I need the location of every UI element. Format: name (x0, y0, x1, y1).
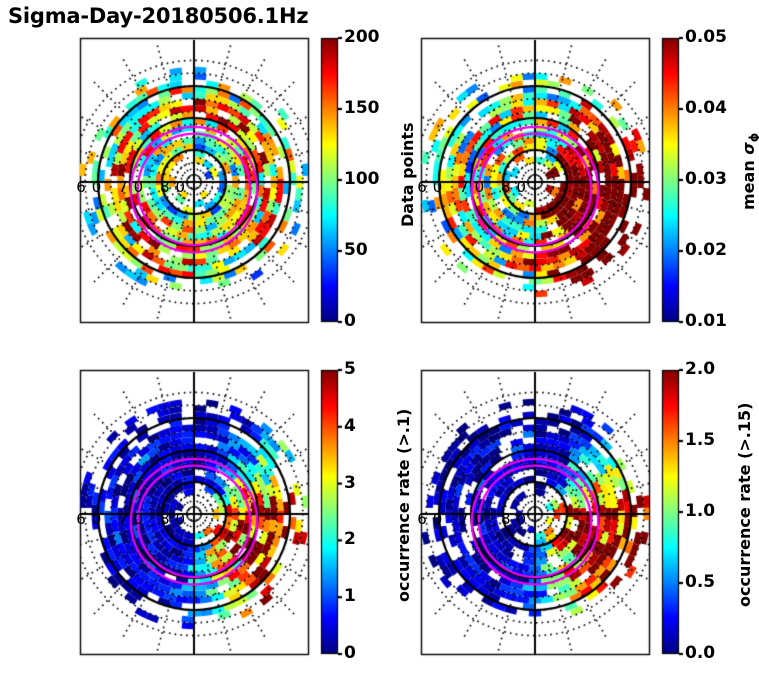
colorbar-tick-label: 4 (344, 418, 356, 435)
colorbar-tick-label: 1.0 (685, 503, 715, 520)
latitude-tick-labels: 60 70 80 (417, 180, 532, 195)
colorbar-tick-label: 0.05 (685, 29, 727, 46)
figure-title: Sigma-Day-20180506.1Hz (8, 4, 308, 28)
colorbar-tick-label: 0 (344, 645, 356, 662)
colorbar-tick-label: 100 (344, 171, 380, 188)
figure-root: Sigma-Day-20180506.1Hz 050100150200Data … (0, 0, 759, 674)
colorbar-tick-label: 0.04 (685, 100, 727, 117)
colorbar-tick-label: 5 (344, 361, 356, 378)
colorbar-tick-label: 1 (344, 588, 356, 605)
colorbar-axis-label: occurrence rate (>.15) (737, 402, 753, 606)
colorbar-tick-label: 0 (344, 313, 356, 330)
latitude-tick-labels: 60 70 80 (76, 512, 191, 527)
colorbar-tick-label: 0.0 (685, 645, 715, 662)
colorbar-tick-label: 3 (344, 475, 356, 492)
colorbar-axis-label: Data points (400, 123, 416, 228)
colorbar-tick-label: 0.02 (685, 242, 727, 259)
colorbar-tick-label: 50 (344, 242, 368, 259)
colorbar-tick-label: 200 (344, 29, 380, 46)
colorbar-tick-label: 2 (344, 531, 356, 548)
colorbar-tick-label: 2.0 (685, 361, 715, 378)
latitude-tick-labels: 60 70 80 (417, 512, 532, 527)
colorbar-axis-label: mean σϕ (741, 133, 759, 210)
colorbar-tick-label: 0.01 (685, 313, 727, 330)
latitude-tick-labels: 60 70 80 (76, 180, 191, 195)
colorbar-tick-label: 150 (344, 100, 380, 117)
colorbar-tick-label: 0.5 (685, 574, 715, 591)
colorbar-tick-label: 1.5 (685, 432, 715, 449)
colorbar-tick-label: 0.03 (685, 171, 727, 188)
colorbar-axis-label: occurrence rate (>.1) (396, 409, 412, 602)
